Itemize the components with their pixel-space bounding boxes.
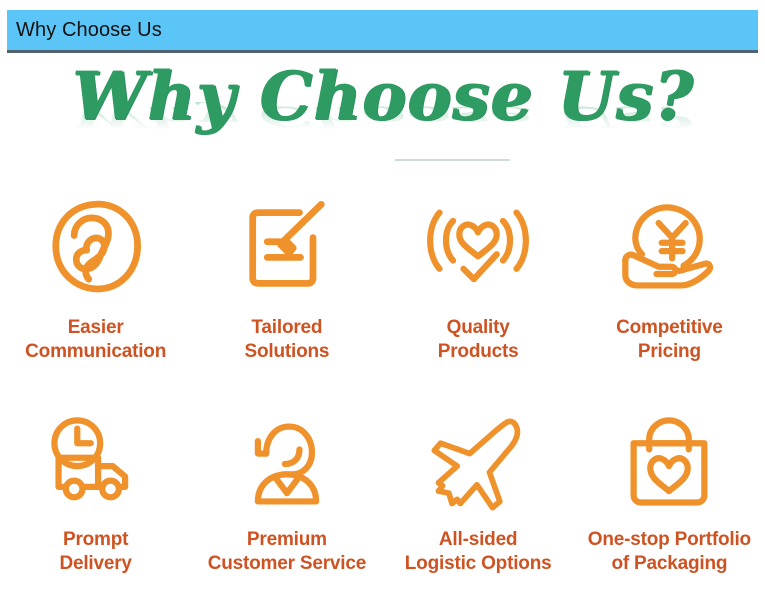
hand-holding-yen-coin-icon xyxy=(617,196,721,300)
ear-in-circle-icon xyxy=(44,196,148,300)
hero-section: Why Choose Us? Why Choose Us? xyxy=(0,62,765,172)
feature-label: One-stop Portfolio of Packaging xyxy=(588,528,751,576)
feature-card-all-sided-logistic-options[interactable]: All-sided Logistic Options xyxy=(383,412,574,576)
shopping-bag-heart-icon xyxy=(617,412,721,516)
feature-label: Easier Communication xyxy=(25,316,166,364)
heart-check-signal-icon xyxy=(426,196,530,300)
feature-card-one-stop-portfolio-of-packaging[interactable]: One-stop Portfolio of Packaging xyxy=(574,412,765,576)
feature-label: All-sided Logistic Options xyxy=(405,528,552,576)
feature-card-easier-communication[interactable]: Easier Communication xyxy=(0,196,191,364)
feature-row-bottom: Prompt Delivery Premium Customer Service… xyxy=(0,412,765,576)
delivery-truck-clock-icon xyxy=(44,412,148,516)
window-title: Why Choose Us xyxy=(7,20,162,40)
page-title: Why Choose Us? xyxy=(72,62,694,131)
feature-card-competitive-pricing[interactable]: Competitive Pricing xyxy=(574,196,765,364)
feature-card-premium-customer-service[interactable]: Premium Customer Service xyxy=(191,412,382,576)
headset-agent-icon xyxy=(235,412,339,516)
feature-label: Premium Customer Service xyxy=(208,528,366,576)
hero-divider xyxy=(395,159,510,161)
feature-label: Quality Products xyxy=(438,316,519,364)
document-pencil-icon xyxy=(235,196,339,300)
feature-label: Competitive Pricing xyxy=(616,316,723,364)
window-header-bar: Why Choose Us xyxy=(7,10,758,53)
airplane-icon xyxy=(426,412,530,516)
feature-label: Prompt Delivery xyxy=(59,528,131,576)
feature-label: Tailored Solutions xyxy=(245,316,330,364)
feature-card-prompt-delivery[interactable]: Prompt Delivery xyxy=(0,412,191,576)
feature-row-top: Easier Communication Tailored Solutions xyxy=(0,196,765,364)
feature-card-tailored-solutions[interactable]: Tailored Solutions xyxy=(191,196,382,364)
feature-card-quality-products[interactable]: Quality Products xyxy=(383,196,574,364)
hero-title-wrap: Why Choose Us? Why Choose Us? xyxy=(72,62,694,131)
